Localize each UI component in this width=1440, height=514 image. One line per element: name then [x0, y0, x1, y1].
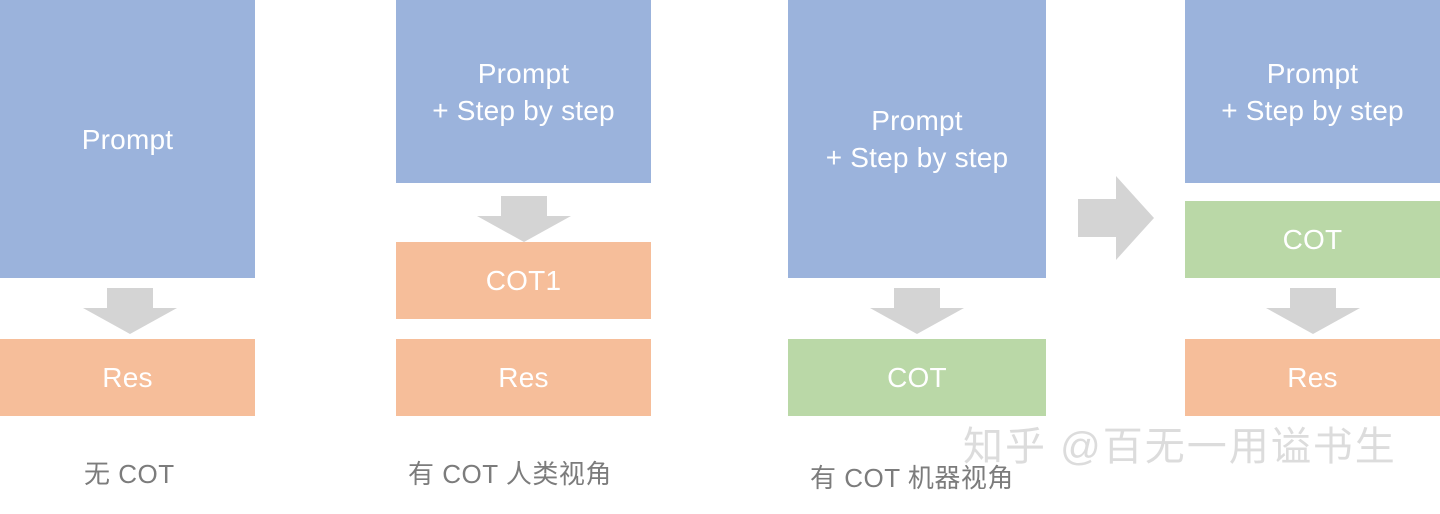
col2-caption: 有 COT 人类视角 [408, 459, 612, 489]
col3-cot-box: COT [788, 339, 1046, 416]
col1-prompt-label: Prompt [82, 121, 173, 158]
col4-cot-box: COT [1185, 201, 1440, 278]
col2-arrow-down-icon [477, 196, 571, 242]
col2-prompt-box: Prompt + Step by step [396, 0, 651, 183]
col3-prompt-label: Prompt + Step by step [826, 102, 1009, 176]
zhihu-watermark: 知乎 @百无一用谥书生 [963, 424, 1397, 470]
col3-caption: 有 COT 机器视角 [810, 463, 1014, 493]
col4-res-label: Res [1287, 359, 1337, 396]
col4-prompt-box: Prompt + Step by step [1185, 0, 1440, 183]
col1-prompt-box: Prompt [0, 0, 255, 278]
col1-res-box: Res [0, 339, 255, 416]
col1-caption: 无 COT [84, 459, 175, 489]
col2-prompt-label: Prompt + Step by step [432, 55, 615, 129]
col1-res-label: Res [102, 359, 152, 396]
col2-res-box: Res [396, 339, 651, 416]
diagram-canvas: Prompt Res 无 COT Prompt + Step by step C… [0, 0, 1440, 514]
col2-res-label: Res [498, 359, 548, 396]
col3-arrow-down-icon [870, 288, 964, 334]
col3-prompt-box: Prompt + Step by step [788, 0, 1046, 278]
col1-arrow-down-icon [83, 288, 177, 334]
col2-cot1-box: COT1 [396, 242, 651, 319]
col3-cot-label: COT [887, 359, 947, 396]
col2-cot1-label: COT1 [486, 262, 561, 299]
col4-arrow-down-icon [1266, 288, 1360, 334]
col4-cot-label: COT [1283, 221, 1343, 258]
stage-arrow-right-icon [1078, 176, 1154, 260]
col4-res-box: Res [1185, 339, 1440, 416]
col4-prompt-label: Prompt + Step by step [1221, 55, 1404, 129]
